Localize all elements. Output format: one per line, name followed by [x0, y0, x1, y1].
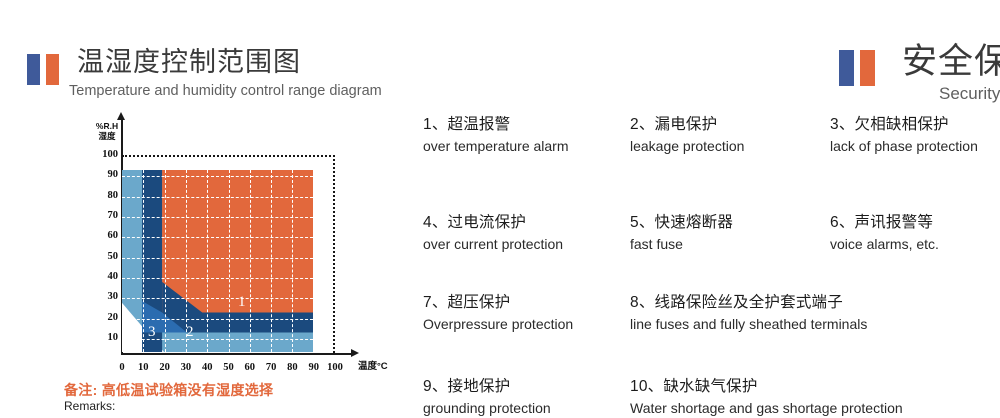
security-feature-list: 1、超温报警over temperature alarm2、漏电保护leakag… — [415, 115, 1000, 412]
security-feature-item: 2、漏电保护leakage protection — [630, 115, 744, 156]
gridline-horizontal — [122, 217, 313, 218]
x-axis-arrow-icon — [351, 349, 359, 357]
security-feature-label-en: over temperature alarm — [423, 138, 569, 156]
gridline-horizontal — [122, 278, 313, 279]
right-title-en: Security system — [939, 84, 1000, 104]
y-tick-label: 30 — [92, 291, 118, 302]
right-section-marker — [839, 50, 875, 86]
dotted-boundary-vertical — [333, 155, 335, 353]
dotted-boundary-horizontal — [122, 155, 335, 157]
y-axis-ticks: 102030405060708090100 — [88, 0, 118, 412]
x-axis-line — [121, 353, 353, 355]
security-feature-label-cn: 5、快速熔断器 — [630, 213, 733, 232]
security-feature-label-cn: 6、声讯报警等 — [830, 213, 939, 232]
security-feature-item: 8、线路保险丝及全护套式端子line fuses and fully sheat… — [630, 293, 867, 334]
y-tick-label: 60 — [92, 230, 118, 241]
temperature-humidity-panel: 温湿度控制范围图 Temperature and humidity contro… — [0, 0, 415, 412]
security-feature-label-en: leakage protection — [630, 138, 744, 156]
marker-bar-blue — [27, 54, 40, 85]
gridline-horizontal — [122, 237, 313, 238]
security-feature-label-en: voice alarms, etc. — [830, 236, 939, 254]
gridline-horizontal — [122, 298, 313, 299]
y-tick-label: 70 — [92, 210, 118, 221]
security-feature-label-en: Water shortage and gas shortage protecti… — [630, 400, 903, 418]
security-feature-label-en: grounding protection — [423, 400, 551, 418]
security-feature-label-cn: 1、超温报警 — [423, 115, 569, 134]
security-feature-label-cn: 3、欠相缺相保护 — [830, 115, 978, 134]
zone-number-1: 1 — [238, 295, 246, 310]
gridline-horizontal — [122, 319, 313, 320]
security-feature-label-en: over current protection — [423, 236, 563, 254]
security-feature-label-en: line fuses and fully sheathed terminals — [630, 316, 867, 334]
left-section-marker — [27, 54, 59, 85]
remark-cn: 备注: 高低温试验箱没有湿度选择 — [64, 380, 273, 400]
security-feature-label-cn: 8、线路保险丝及全护套式端子 — [630, 293, 867, 312]
security-feature-label-en: Overpressure protection — [423, 316, 573, 334]
marker-bar-blue — [839, 50, 854, 86]
security-feature-label-cn: 4、过电流保护 — [423, 213, 563, 232]
y-tick-label: 80 — [92, 190, 118, 201]
y-axis-arrow-icon — [117, 112, 125, 120]
y-tick-label: 40 — [92, 271, 118, 282]
security-feature-label-cn: 2、漏电保护 — [630, 115, 744, 134]
security-feature-item: 3、欠相缺相保护lack of phase protection — [830, 115, 978, 156]
marker-bar-orange — [46, 54, 59, 85]
x-axis-ticks: 0102030405060708090100 — [0, 362, 415, 378]
x-tick-label: 100 — [323, 362, 347, 373]
y-tick-label: 10 — [92, 332, 118, 343]
security-feature-label-cn: 9、接地保护 — [423, 377, 551, 396]
security-feature-label-en: lack of phase protection — [830, 138, 978, 156]
y-tick-label: 50 — [92, 251, 118, 262]
gridline-horizontal — [122, 197, 313, 198]
gridline-horizontal — [122, 176, 313, 177]
zone-number-4: 4 — [129, 327, 137, 342]
security-feature-item: 7、超压保护Overpressure protection — [423, 293, 573, 334]
security-feature-item: 1、超温报警over temperature alarm — [423, 115, 569, 156]
chart-plot-area: 1 2 3 4 — [122, 170, 313, 352]
security-feature-label-cn: 7、超压保护 — [423, 293, 573, 312]
marker-bar-orange — [860, 50, 875, 86]
y-tick-label: 20 — [92, 312, 118, 323]
security-feature-label-cn: 10、缺水缺气保护 — [630, 377, 903, 396]
zone-number-2: 2 — [186, 325, 194, 340]
gridline-horizontal — [122, 258, 313, 259]
remark-en: Remarks: — [64, 399, 115, 413]
y-tick-label: 90 — [92, 169, 118, 180]
right-title-cn: 安全保护系统 — [902, 33, 1000, 84]
y-tick-label: 100 — [92, 149, 118, 160]
zone-number-3: 3 — [148, 325, 156, 340]
security-feature-label-en: fast fuse — [630, 236, 733, 254]
security-feature-item: 6、声讯报警等voice alarms, etc. — [830, 213, 939, 254]
security-feature-item: 4、过电流保护over current protection — [423, 213, 563, 254]
security-feature-item: 5、快速熔断器fast fuse — [630, 213, 733, 254]
x-axis-label: 温度°C — [358, 358, 388, 372]
